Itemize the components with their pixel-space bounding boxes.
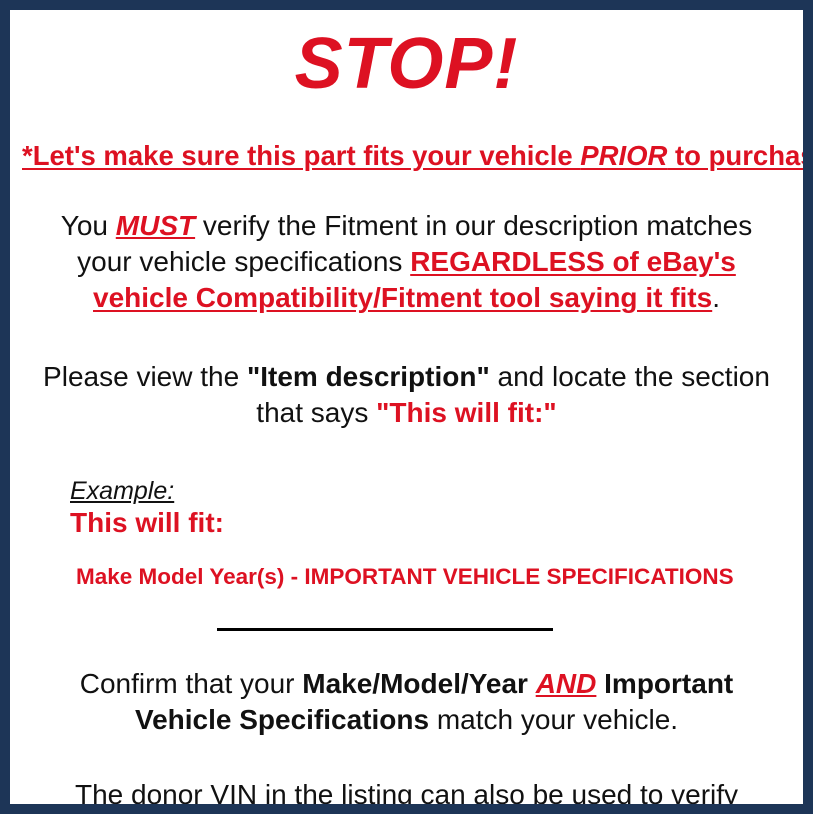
paragraph-verify-fitment: You MUST verify the Fitment in our descr…	[22, 208, 791, 317]
subheading-emphasis-prior: PRIOR	[580, 140, 667, 171]
fitment-notice-card: STOP! *Let's make sure this part fits yo…	[0, 0, 813, 814]
divider-wrap	[22, 618, 791, 636]
example-block: Example: This will fit: Make Model Year(…	[22, 478, 791, 590]
emphasis-and: AND	[536, 668, 597, 699]
p3-segment-1: Confirm that your	[80, 668, 303, 699]
example-this-will-fit: This will fit:	[70, 507, 791, 539]
p1-segment-3: .	[712, 282, 720, 313]
p3-space-1	[528, 668, 536, 699]
item-description-quote: "Item description"	[247, 361, 490, 392]
example-label: Example:	[70, 478, 791, 506]
p3-space-2	[596, 668, 604, 699]
paragraph-donor-vin: The donor VIN in the listing can also be…	[22, 777, 791, 814]
p1-segment-1: You	[61, 210, 116, 241]
paragraph-item-description: Please view the "Item description" and l…	[22, 359, 791, 432]
section-divider	[217, 628, 553, 631]
p2-segment-1: Please view the	[43, 361, 247, 392]
make-model-year-bold: Make/Model/Year	[302, 668, 528, 699]
subheading-line: *Let's make sure this part fits your veh…	[22, 140, 791, 172]
this-will-fit-quote: "This will fit:"	[376, 397, 557, 428]
subheading-after-italic: to purchasing*	[667, 140, 813, 171]
emphasis-must: MUST	[116, 210, 195, 241]
fitment-notice-body: STOP! *Let's make sure this part fits yo…	[10, 28, 803, 814]
p3-segment-2: match your vehicle.	[429, 704, 678, 735]
example-spec-line: Make Model Year(s) - IMPORTANT VEHICLE S…	[76, 565, 791, 590]
page-title: STOP!	[22, 28, 791, 100]
paragraph-confirm-match: Confirm that your Make/Model/Year AND Im…	[22, 666, 791, 739]
subheading-before-italic: *Let's make sure this part fits your veh…	[22, 140, 580, 171]
